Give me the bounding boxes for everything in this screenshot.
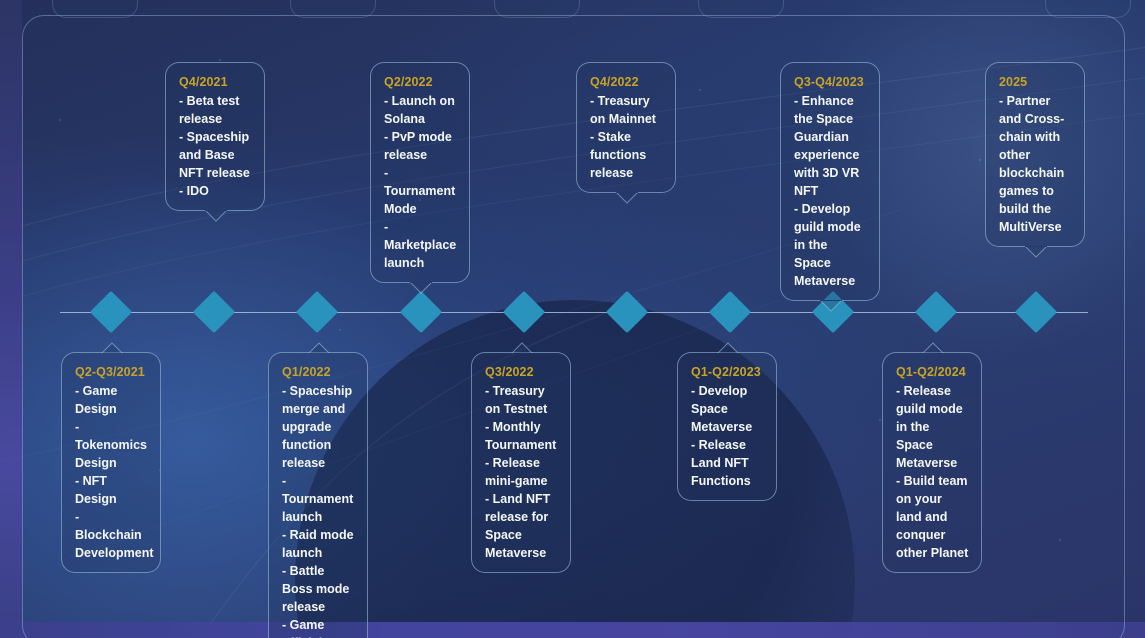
milestone-card-q3-q4-2023[interactable]: Q3-Q4/2023 - Enhance the Space Guardian … <box>780 62 880 301</box>
milestone-year: Q4/2021 <box>179 73 252 91</box>
card-tail-up <box>308 341 330 353</box>
milestone-item: - Develop guild mode in the Space Metave… <box>794 200 867 290</box>
milestone-item: - Blockchain Development <box>75 508 148 562</box>
milestone-year: Q4/2022 <box>590 73 663 91</box>
milestone-year: Q1/2022 <box>282 363 355 381</box>
milestone-item: - Develop Space Metaverse <box>691 382 764 436</box>
offscreen-card-ghost <box>494 0 580 18</box>
milestone-items: - Treasury on Mainnet - Stake functions … <box>590 92 663 182</box>
milestone-item: - NFT Design <box>75 472 148 508</box>
offscreen-card-ghost <box>1045 0 1131 18</box>
card-tail-up <box>101 341 123 353</box>
milestone-year: Q2-Q3/2021 <box>75 363 148 381</box>
milestone-item: - Build team on your land and conquer ot… <box>896 472 969 562</box>
roadmap-canvas: Q4/2021 - Beta test release - Spaceship … <box>0 0 1145 638</box>
milestone-item: - Game Design <box>75 382 148 418</box>
card-tail-down <box>616 192 638 204</box>
milestone-item: - Release mini-game <box>485 454 558 490</box>
left-edge-band <box>0 0 22 638</box>
milestone-item: - Launch on Solana <box>384 92 457 128</box>
milestone-year: Q1-Q2/2023 <box>691 363 764 381</box>
milestone-item: - Tournament Mode <box>384 164 457 218</box>
milestone-item: - Land NFT release for Space Metaverse <box>485 490 558 562</box>
milestone-items: - Game Design - Tokenomics Design - NFT … <box>75 382 148 562</box>
milestone-card-2025[interactable]: 2025 - Partner and Cross-chain with othe… <box>985 62 1085 247</box>
milestone-card-q1-q2-2024[interactable]: Q1-Q2/2024 - Release guild mode in the S… <box>882 352 982 573</box>
milestone-year: Q3/2022 <box>485 363 558 381</box>
milestone-card-q2-q3-2021[interactable]: Q2-Q3/2021 - Game Design - Tokenomics De… <box>61 352 161 573</box>
milestone-items: - Spaceship merge and upgrade function r… <box>282 382 355 638</box>
milestone-item: - Release Land NFT Functions <box>691 436 764 490</box>
milestone-item: - Spaceship and Base NFT release <box>179 128 252 182</box>
offscreen-card-ghost <box>52 0 138 18</box>
milestone-items: - Release guild mode in the Space Metave… <box>896 382 969 562</box>
milestone-item: - Treasury on Testnet <box>485 382 558 418</box>
milestone-card-q2-2022[interactable]: Q2/2022 - Launch on Solana - PvP mode re… <box>370 62 470 283</box>
milestone-items: - Beta test release - Spaceship and Base… <box>179 92 252 200</box>
milestone-item: - Stake functions release <box>590 128 663 182</box>
milestone-item: - Spaceship merge and upgrade function r… <box>282 382 355 472</box>
milestone-card-q4-2021[interactable]: Q4/2021 - Beta test release - Spaceship … <box>165 62 265 211</box>
milestone-items: - Enhance the Space Guardian experience … <box>794 92 867 290</box>
milestone-items: - Develop Space Metaverse - Release Land… <box>691 382 764 490</box>
milestone-item: - Beta test release <box>179 92 252 128</box>
milestone-items: - Treasury on Testnet - Monthly Tourname… <box>485 382 558 562</box>
offscreen-card-ghost <box>290 0 376 18</box>
milestone-item: - Tournament launch <box>282 472 355 526</box>
milestone-card-q4-2022[interactable]: Q4/2022 - Treasury on Mainnet - Stake fu… <box>576 62 676 193</box>
milestone-year: Q3-Q4/2023 <box>794 73 867 91</box>
milestone-card-q1-2022[interactable]: Q1/2022 - Spaceship merge and upgrade fu… <box>268 352 368 638</box>
milestone-item: - Marketplace launch <box>384 218 457 272</box>
milestone-item: - Release guild mode in the Space Metave… <box>896 382 969 472</box>
milestone-items: - Partner and Cross-chain with other blo… <box>999 92 1072 236</box>
milestone-item: - Partner and Cross-chain with other blo… <box>999 92 1072 236</box>
milestone-item: - IDO <box>179 182 252 200</box>
card-tail-down <box>410 282 432 294</box>
milestone-item: - Treasury on Mainnet <box>590 92 663 128</box>
offscreen-card-ghost <box>698 0 784 18</box>
bottom-edge-band <box>0 622 1145 638</box>
milestone-item: - Monthly Tournament <box>485 418 558 454</box>
milestone-card-q3-2022[interactable]: Q3/2022 - Treasury on Testnet - Monthly … <box>471 352 571 573</box>
milestone-item: - Game official launch on BSC <box>282 616 355 638</box>
card-tail-up <box>922 341 944 353</box>
milestone-year: Q1-Q2/2024 <box>896 363 969 381</box>
card-tail-down <box>820 300 842 312</box>
milestone-item: - Battle Boss mode release <box>282 562 355 616</box>
card-tail-up <box>511 341 533 353</box>
milestone-card-q1-q2-2023[interactable]: Q1-Q2/2023 - Develop Space Metaverse - R… <box>677 352 777 501</box>
milestone-item: - PvP mode release <box>384 128 457 164</box>
milestone-year: Q2/2022 <box>384 73 457 91</box>
card-tail-down <box>1025 246 1047 258</box>
milestone-item: - Tokenomics Design <box>75 418 148 472</box>
milestone-items: - Launch on Solana - PvP mode release - … <box>384 92 457 272</box>
milestone-item: - Enhance the Space Guardian experience … <box>794 92 867 200</box>
milestone-item: - Raid mode launch <box>282 526 355 562</box>
card-tail-down <box>205 210 227 222</box>
milestone-year: 2025 <box>999 73 1072 91</box>
card-tail-up <box>717 341 739 353</box>
